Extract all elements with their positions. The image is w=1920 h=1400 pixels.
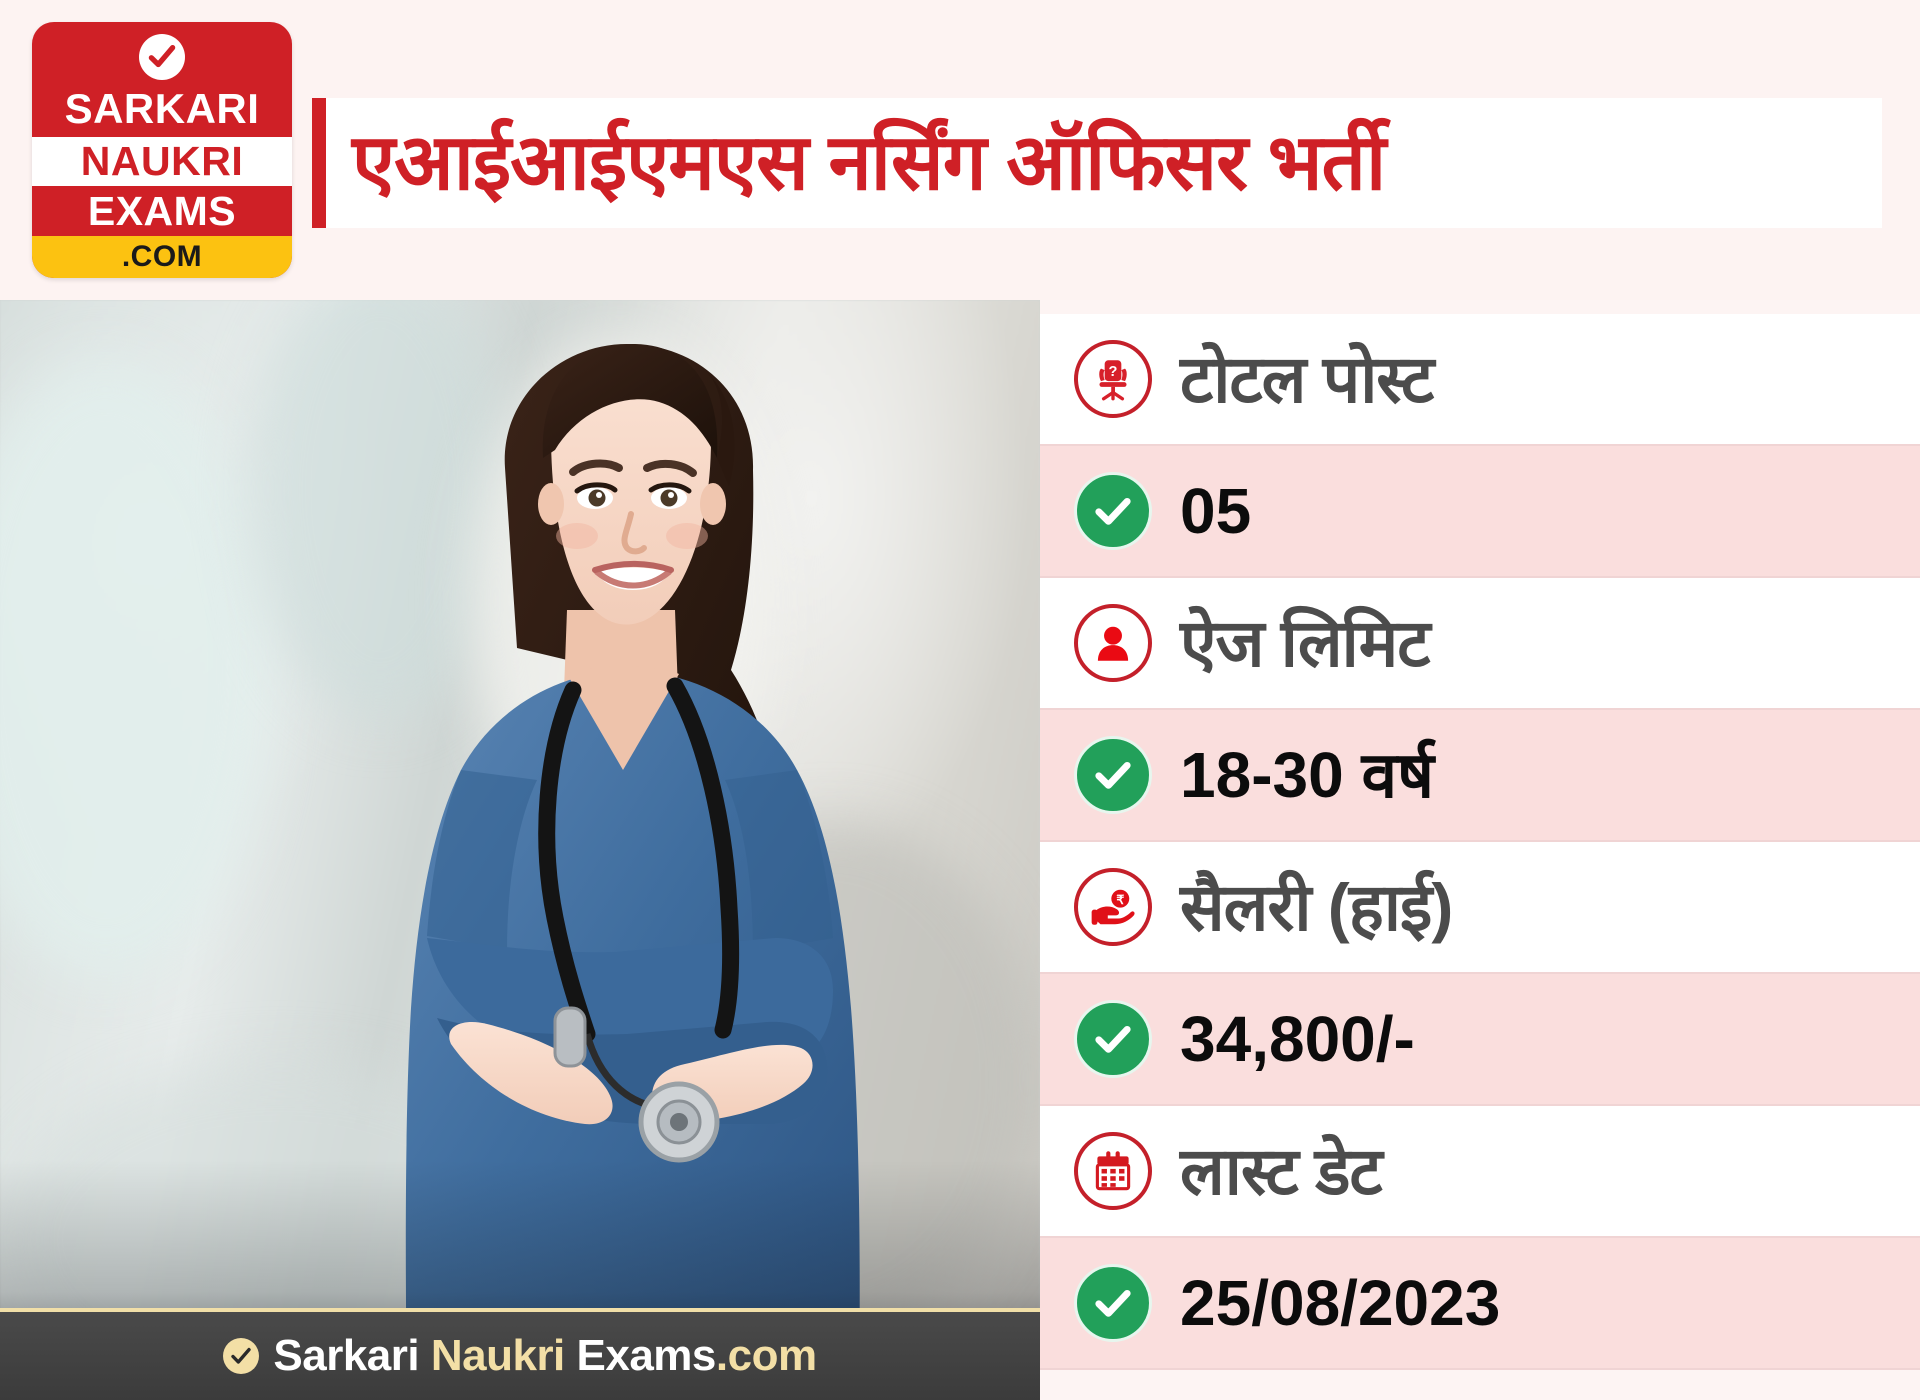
logo-line-naukri: NAUKRI [32, 137, 292, 187]
page-title: एआईआईएमएस नर्सिंग ऑफिसर भर्ती [326, 122, 1882, 204]
info-row-value: 25/08/2023 [1180, 1271, 1500, 1335]
info-row-label: सैलरी (हाई) [1180, 874, 1452, 940]
info-row-label: टोटल पोस्ट [1180, 346, 1433, 412]
title-accent-rule [312, 98, 326, 228]
svg-text:₹: ₹ [1116, 893, 1124, 907]
logo-line-exams: EXAMS [32, 186, 292, 236]
info-row-value: 18-30 वर्ष [1180, 743, 1434, 807]
footer-part-naukri: Naukri [431, 1331, 577, 1380]
check-circle-icon [1074, 472, 1152, 550]
info-row-total-post-value: 05 [1040, 446, 1920, 578]
info-row-salary-label: ₹ सैलरी (हाई) [1040, 842, 1920, 974]
check-circle-icon [1074, 736, 1152, 814]
info-row-salary-value: 34,800/- [1040, 974, 1920, 1106]
logo-line-com: .COM [32, 236, 292, 278]
logo-check-wrap [32, 22, 292, 82]
main-content: Sarkari Naukri Exams.com ? [0, 300, 1920, 1400]
info-row-value: 34,800/- [1180, 1007, 1415, 1071]
svg-text:?: ? [1109, 364, 1118, 380]
footer-part-sarkari: Sarkari [273, 1331, 430, 1380]
info-row-last-date-label: लास्ट डेट [1040, 1106, 1920, 1238]
footer-site-name: Sarkari Naukri Exams.com [273, 1331, 816, 1381]
logo-line-sarkari: SARKARI [32, 82, 292, 137]
check-circle-icon [1074, 1264, 1152, 1342]
nurse-photo: Sarkari Naukri Exams.com [0, 300, 1040, 1400]
office-chair-question-icon: ? [1074, 340, 1152, 418]
check-icon [223, 1338, 259, 1374]
title-bar: एआईआईएमएस नर्सिंग ऑफिसर भर्ती [312, 98, 1882, 228]
info-row-value: 05 [1180, 479, 1251, 543]
hand-rupee-icon: ₹ [1074, 868, 1152, 946]
info-row-label: लास्ट डेट [1180, 1138, 1382, 1204]
info-row-last-date-value: 25/08/2023 [1040, 1238, 1920, 1370]
check-circle-icon [1074, 1000, 1152, 1078]
calendar-icon [1074, 1132, 1152, 1210]
info-row-label: ऐज लिमिट [1180, 610, 1429, 676]
footer-part-exams: Exams [577, 1331, 716, 1380]
footer-bar: Sarkari Naukri Exams.com [0, 1308, 1040, 1400]
person-icon [1074, 604, 1152, 682]
info-row-age-limit-label: ऐज लिमिट [1040, 578, 1920, 710]
info-row-age-limit-value: 18-30 वर्ष [1040, 710, 1920, 842]
poster-root: SARKARI NAUKRI EXAMS .COM एआईआईएमएस नर्स… [0, 0, 1920, 1400]
check-icon [139, 34, 185, 80]
info-panel: ? टोटल पोस्ट [1040, 300, 1920, 1400]
header: SARKARI NAUKRI EXAMS .COM एआईआईएमएस नर्स… [0, 0, 1920, 300]
site-logo[interactable]: SARKARI NAUKRI EXAMS .COM [32, 22, 292, 278]
info-row-total-post-label: ? टोटल पोस्ट [1040, 314, 1920, 446]
footer-part-com: .com [716, 1331, 817, 1380]
